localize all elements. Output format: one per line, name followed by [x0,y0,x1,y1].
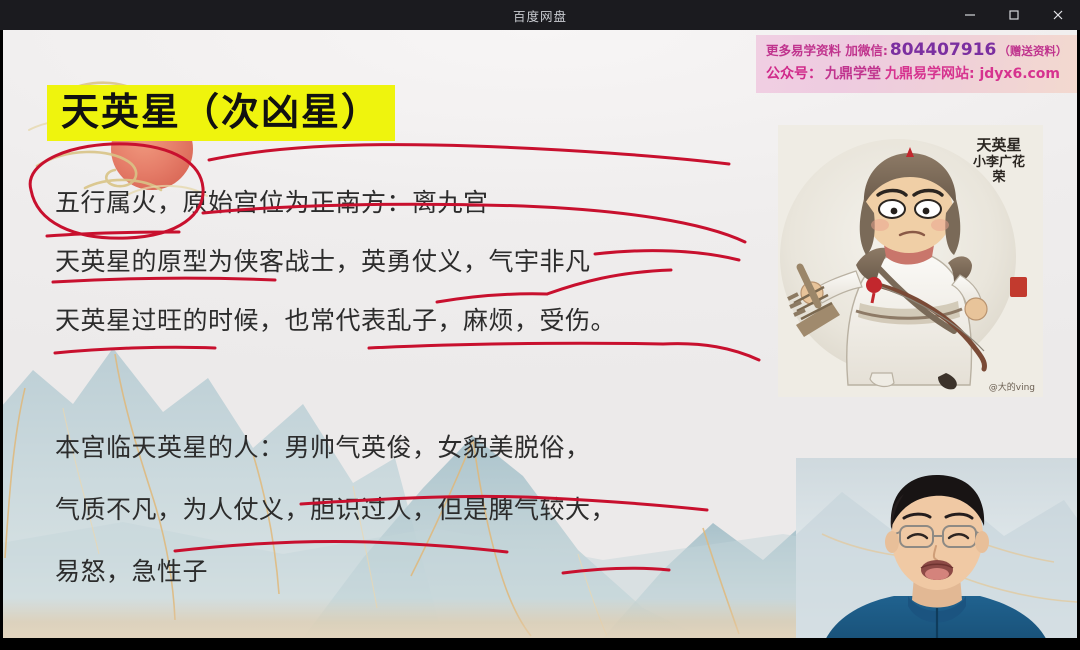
banner-line-2: 公众号： 九鼎学堂 九鼎易学网站: jdyx6.com [766,63,1071,83]
slide-heading: 天英星（次凶星） [47,85,395,141]
banner-website: 九鼎易学网站: jdyx6.com [885,63,1060,83]
banner-official-account-label: 公众号： [766,63,822,83]
calligraphy-main: 天英星 [976,136,1021,154]
body-line: 本宫临天英星的人：男帅气英俊，女貌美脱俗， [55,435,755,460]
banner-wechat-number: 804407916 [890,40,996,60]
warrior-illustration: 天英星 小李广花荣 @大的ving [778,125,1043,397]
slide-heading-wrap: 天英星（次凶星） [47,85,395,141]
body-line: 五行属火，原始宫位为正南方：离九宫 [55,190,755,215]
body-line: 易怒，急性子 [55,559,755,584]
red-seal-stamp [1010,277,1027,297]
banner-gift-note: （赠送资料） [998,43,1067,59]
body-line: 天英星的原型为侠客战士，英勇仗义，气宇非凡 [55,249,755,274]
minimize-button[interactable] [948,0,992,30]
window-title: 百度网盘 [513,6,567,25]
banner-line-1: 更多易学资料 加微信: 804407916 （赠送资料） [766,40,1071,60]
watermark-banner: 更多易学资料 加微信: 804407916 （赠送资料） 公众号： 九鼎学堂 九… [756,35,1077,93]
calligraphy-sub: 小李广花荣 [967,156,1031,186]
window-title-bar[interactable]: 百度网盘 [0,0,1080,30]
slide-canvas: 天英星（次凶星） 五行属火，原始宫位为正南方：离九宫 天英星的原型为侠客战士，英… [3,30,1077,638]
banner-official-account-name: 九鼎学堂 [825,63,881,83]
maximize-button[interactable] [992,0,1036,30]
app-window: 百度网盘 [0,0,1080,650]
bottom-letterbox [0,638,1080,650]
left-letterbox [0,30,3,650]
body-line: 气质不凡，为人仗义，胆识过人，但是脾气较大， [55,497,755,522]
close-button[interactable] [1036,0,1080,30]
artist-signature: @大的ving [989,380,1035,393]
window-controls [948,0,1080,30]
paragraph-block-2: 本宫临天英星的人：男帅气英俊，女貌美脱俗， 气质不凡，为人仗义，胆识过人，但是脾… [55,435,755,621]
banner-wechat-label: 更多易学资料 加微信: [766,40,888,59]
illustration-calligraphy: 天英星 小李广花荣 [967,137,1031,186]
body-line: 天英星过旺的时候，也常代表乱子，麻烦，受伤。 [55,308,755,333]
presenter-video[interactable] [796,458,1077,638]
paragraph-block-1: 五行属火，原始宫位为正南方：离九宫 天英星的原型为侠客战士，英勇仗义，气宇非凡 … [55,190,755,367]
